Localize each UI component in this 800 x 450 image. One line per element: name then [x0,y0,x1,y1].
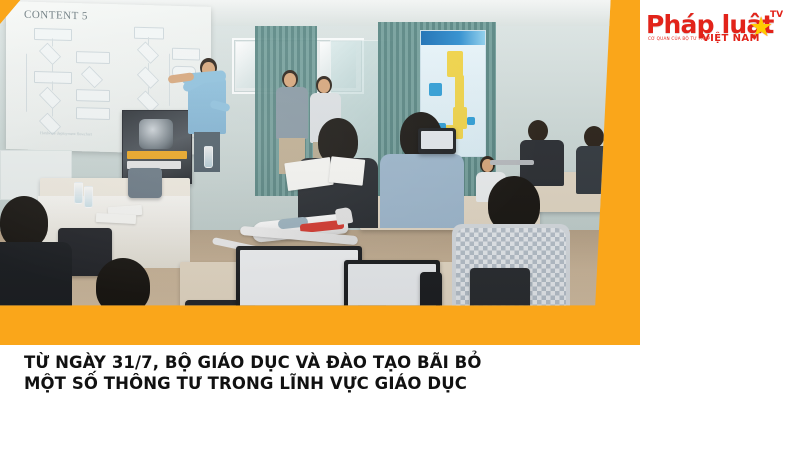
publisher-logo[interactable]: Pháp luật ★ TV CƠ QUAN CỦA BỘ TƯ PHÁP VI… [646,6,794,52]
seminar-photo: CONTENT 5 Hardware deployment flowchart [0,0,640,345]
article-headline[interactable]: TỪ NGÀY 31/7, BỘ GIÁO DỤC VÀ ĐÀO TẠO BÃI… [24,352,764,394]
slide-caption-left: Hardware deployment flowchart [40,130,92,136]
laptop-back-desk [418,128,456,154]
headline-line-1: TỪ NGÀY 31/7, BỘ GIÁO DỤC VÀ ĐÀO TẠO BÃI… [24,352,764,373]
photo-scene: CONTENT 5 Hardware deployment flowchart [0,0,640,345]
water-bottle-2 [84,186,93,208]
slide-title: CONTENT 5 [24,9,88,23]
foreground-head-d [0,196,48,248]
article-image-card: CONTENT 5 Hardware deployment flowchart [0,0,640,345]
open-booklet-page [329,156,366,185]
laptop-keyboard-far [490,160,534,165]
model-airplane-tail [335,207,354,226]
water-bottle-3 [204,146,213,168]
headline-line-2: MỘT SỐ THÔNG TƯ TRONG LĨNH VỰC GIÁO DỤC [24,373,764,394]
foreground-body-b [380,154,464,228]
logo-country: VIỆT NAM [702,33,760,44]
logo-tv-badge: TV [770,10,783,20]
chair-back [128,168,162,198]
water-bottle-1 [74,182,83,204]
